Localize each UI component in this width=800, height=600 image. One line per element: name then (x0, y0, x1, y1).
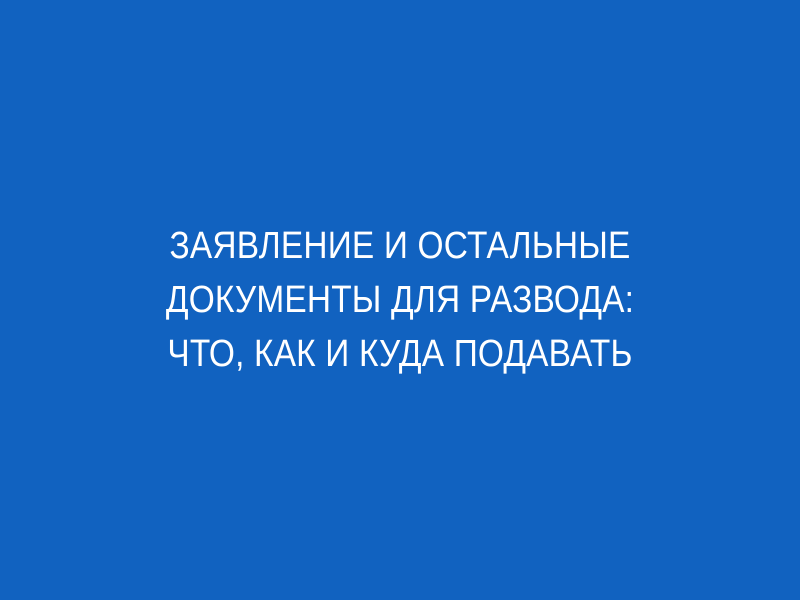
banner-background: ЗАЯВЛЕНИЕ И ОСТАЛЬНЫЕ ДОКУМЕНТЫ ДЛЯ РАЗВ… (0, 0, 800, 600)
page-title: ЗАЯВЛЕНИЕ И ОСТАЛЬНЫЕ ДОКУМЕНТЫ ДЛЯ РАЗВ… (92, 219, 708, 381)
headline-line-3: ЧТО, КАК И КУДА ПОДАВАТЬ (92, 327, 708, 381)
headline-line-2: ДОКУМЕНТЫ ДЛЯ РАЗВОДА: (92, 273, 708, 327)
headline-line-1: ЗАЯВЛЕНИЕ И ОСТАЛЬНЫЕ (92, 219, 708, 273)
